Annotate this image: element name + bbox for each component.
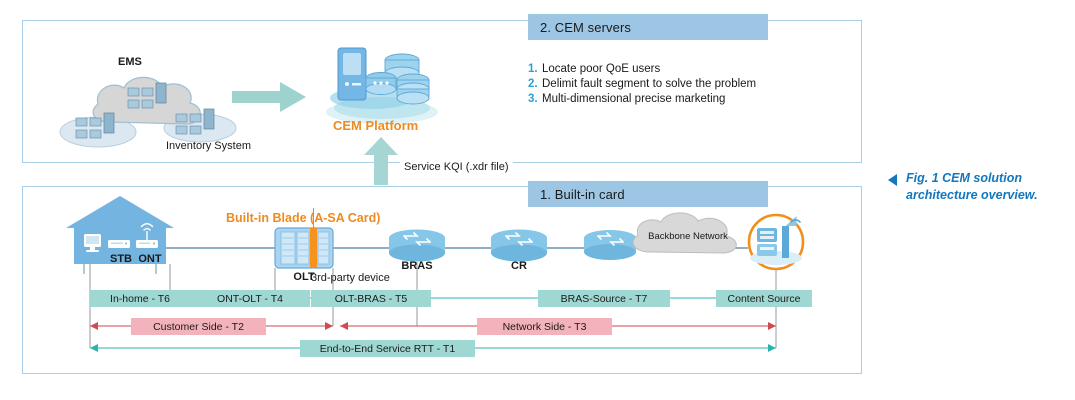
list-item-label: Locate poor QoE users xyxy=(542,63,660,75)
caption-line-2: architecture overview. xyxy=(906,187,1068,204)
cem-benefits-list: 1. Locate poor QoE users 2. Delimit faul… xyxy=(528,63,828,108)
backbone-network-label: Backbone Network xyxy=(648,231,728,242)
built-in-blade-label: Built-in Blade (A-SA Card) xyxy=(226,211,380,225)
caption-line-1: Fig. 1 CEM solution xyxy=(906,170,1068,187)
service-kqi-label: Service KQI (.xdr file) xyxy=(400,161,513,173)
inventory-system-label: Inventory System xyxy=(166,140,251,152)
bras-router-icon xyxy=(389,230,445,262)
list-item: 2. Delimit fault segment to solve the pr… xyxy=(528,78,828,90)
segment-chip-content-source: Content Source xyxy=(716,290,812,307)
segment-chip-in-home: In-home - T6 xyxy=(90,290,190,307)
list-item-label: Multi-dimensional precise marketing xyxy=(542,93,725,105)
third-party-device-label: 3rd-party device xyxy=(311,272,390,284)
segment-chip-end-to-end: End-to-End Service RTT - T1 xyxy=(300,340,475,357)
caption-triangle-icon xyxy=(888,174,897,186)
list-item-number: 1. xyxy=(528,63,542,75)
segment-chip-ont-olt: ONT-OLT - T4 xyxy=(190,290,310,307)
cem-servers-heading: 2. CEM servers xyxy=(528,14,768,40)
list-item-number: 3. xyxy=(528,93,542,105)
segment-chip-customer-side: Customer Side - T2 xyxy=(131,318,266,335)
figure-root: 2. CEM servers EMS xyxy=(0,0,1075,400)
ont-label: ONT xyxy=(138,253,162,265)
kqi-upload-arrow-icon xyxy=(364,137,398,185)
edge-router-icon xyxy=(584,230,636,260)
list-item: 3. Multi-dimensional precise marketing xyxy=(528,93,828,105)
cr-router-icon xyxy=(491,230,547,262)
content-source-icon xyxy=(749,215,803,269)
cem-platform-icon xyxy=(310,38,455,128)
ems-label: EMS xyxy=(118,56,142,68)
flow-arrow-right-icon xyxy=(232,82,306,112)
cr-label: CR xyxy=(511,260,527,272)
segment-chip-network-side: Network Side - T3 xyxy=(477,318,612,335)
segment-chip-olt-bras: OLT-BRAS - T5 xyxy=(311,290,431,307)
list-item-label: Delimit fault segment to solve the probl… xyxy=(542,78,756,90)
list-item: 1. Locate poor QoE users xyxy=(528,63,828,75)
segment-chip-bras-source: BRAS-Source - T7 xyxy=(538,290,670,307)
list-item-number: 2. xyxy=(528,78,542,90)
figure-caption: Fig. 1 CEM solution architecture overvie… xyxy=(888,170,1068,204)
cem-platform-label: CEM Platform xyxy=(333,118,418,133)
stb-label: STB xyxy=(110,253,132,265)
